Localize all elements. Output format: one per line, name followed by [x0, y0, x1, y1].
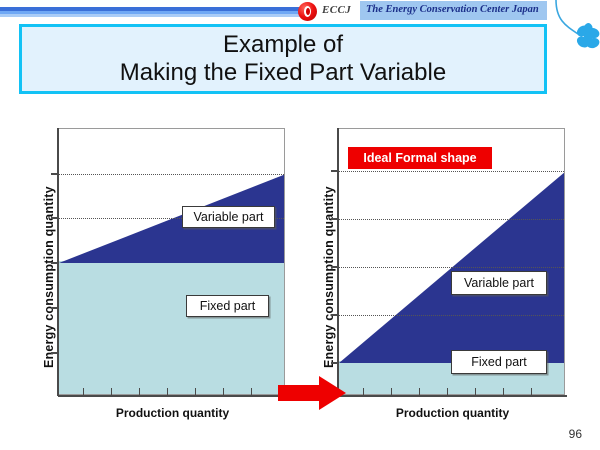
left-chart-x-tick	[195, 388, 196, 395]
left-chart-variable-callout: Variable part	[182, 206, 275, 228]
right-chart-x-tick	[391, 388, 392, 395]
left-chart-plot-area	[58, 128, 285, 395]
right-chart-gridline-4	[339, 315, 565, 316]
slide-title-box: Example of Making the Fixed Part Variabl…	[19, 24, 547, 94]
page-number: 96	[569, 427, 582, 441]
left-chart-y-tick	[51, 352, 58, 354]
slide-title-line-1: Example of	[223, 31, 343, 59]
right-chart-y-tick	[331, 218, 338, 220]
right-chart-y-axis-label: Energy consumption quantity	[322, 186, 336, 368]
clover-flower-icon	[552, 0, 600, 62]
left-chart-y-tick	[51, 307, 58, 309]
right-chart-y-tick	[331, 266, 338, 268]
eccj-tagline: The Energy Conservation Center Japan	[366, 4, 546, 15]
eccj-circle-logo-icon	[298, 2, 317, 21]
left-chart-x-tick	[251, 388, 252, 395]
right-chart-x-tick	[447, 388, 448, 395]
left-chart-variable-area	[59, 129, 285, 395]
right-chart-x-tick	[475, 388, 476, 395]
right-chart-gridline-3	[339, 267, 565, 268]
ideal-formal-shape-banner: Ideal Formal shape	[348, 147, 492, 169]
right-chart-x-axis	[338, 395, 567, 397]
slide-title-line-2: Making the Fixed Part Variable	[120, 59, 446, 87]
right-chart-x-tick	[419, 388, 420, 395]
right-chart-x-axis-label: Production quantity	[338, 406, 567, 420]
left-chart-y-tick	[51, 217, 58, 219]
left-chart-x-axis	[58, 395, 287, 397]
left-chart-x-tick	[223, 388, 224, 395]
right-chart-variable-callout: Variable part	[451, 271, 547, 295]
eccj-wordmark: ECCJ	[322, 4, 351, 16]
right-chart-x-tick	[503, 388, 504, 395]
right-chart-x-tick	[531, 388, 532, 395]
right-chart-gridline-2	[339, 219, 565, 220]
right-chart-y-tick	[331, 362, 338, 364]
left-chart-x-axis-label: Production quantity	[58, 406, 287, 420]
right-chart-y-tick	[331, 170, 338, 172]
left-chart-gridline-upper	[59, 174, 285, 175]
header-rule-pale	[0, 14, 310, 17]
right-chart-y-axis	[337, 128, 339, 396]
left-chart-fixed-callout: Fixed part	[186, 295, 269, 317]
left-chart-x-tick	[139, 388, 140, 395]
left-chart-y-axis-label: Energy consumption quantity	[42, 186, 56, 368]
left-chart-y-tick	[51, 262, 58, 264]
right-chart-x-tick	[363, 388, 364, 395]
right-chart-gridline-1	[339, 171, 565, 172]
header-band: ECCJ The Energy Conservation Center Japa…	[0, 0, 600, 24]
left-chart-x-tick	[111, 388, 112, 395]
right-chart-fixed-callout: Fixed part	[451, 350, 547, 374]
left-chart-x-tick	[167, 388, 168, 395]
left-chart-x-tick	[83, 388, 84, 395]
chart-current-shape: Energy consumption quantity Production q…	[20, 125, 290, 420]
right-arrow-icon	[278, 376, 346, 410]
logo-core-shape	[306, 8, 310, 15]
right-chart-y-tick	[331, 314, 338, 316]
left-chart-y-tick	[51, 173, 58, 175]
